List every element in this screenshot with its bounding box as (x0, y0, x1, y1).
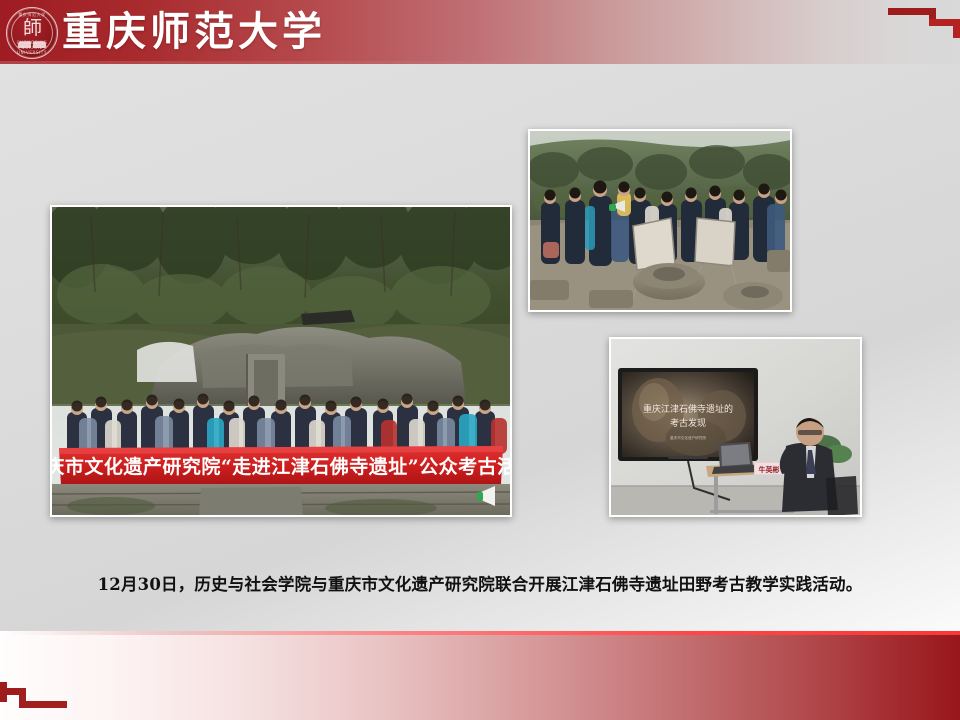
site-visit-photo (528, 129, 792, 312)
screen-title-line: 重庆江津石佛寺遗址的 (643, 403, 733, 415)
nameplate-text: 牛英彬 (759, 465, 780, 474)
bottom-left-bracket-decoration (0, 678, 72, 708)
slide-canvas: 重庆师范大学 師 CHONGQING NORMAL UNIVERSITY 重庆师… (0, 0, 960, 720)
lecture-photo: 重庆江津石佛寺遗址的 考古发现 重庆市文化遗产研究院 牛英彬 (609, 337, 862, 517)
screen-subtitle: 重庆市文化遗产研究院 (670, 435, 706, 440)
group-photo-artwork: 重庆市文化遗产研究院“走进江津石佛寺遗址”公众考古活动 (51, 206, 511, 516)
site-visit-artwork (529, 130, 791, 311)
banner-text: 重庆市文化遗产研究院“走进江津石佛寺遗址”公众考古活动 (51, 455, 511, 478)
top-right-bracket-decoration (888, 8, 960, 38)
seal-center-glyph: 師 (7, 19, 57, 38)
seal-arc-bottom-text: CHONGQING NORMAL UNIVERSITY (7, 40, 57, 55)
bracket-segment (953, 19, 960, 38)
university-name-title: 重庆师范大学 (62, 8, 326, 56)
bracket-segment (19, 701, 67, 708)
lecture-artwork: 重庆江津石佛寺遗址的 考古发现 重庆市文化遗产研究院 牛英彬 (610, 338, 861, 516)
group-photo-with-banner: 重庆市文化遗产研究院“走进江津石佛寺遗址”公众考古活动 (50, 205, 512, 517)
footer-banner (0, 635, 960, 720)
screen-title-line: 考古发现 (670, 417, 706, 429)
slide-caption: 12月30日，历史与社会学院与重庆市文化遗产研究院联合开展江津石佛寺遗址田野考古… (0, 573, 960, 597)
header-banner: 重庆师范大学 師 CHONGQING NORMAL UNIVERSITY 重庆师… (0, 0, 960, 64)
university-seal-icon: 重庆师范大学 師 CHONGQING NORMAL UNIVERSITY (6, 7, 58, 59)
